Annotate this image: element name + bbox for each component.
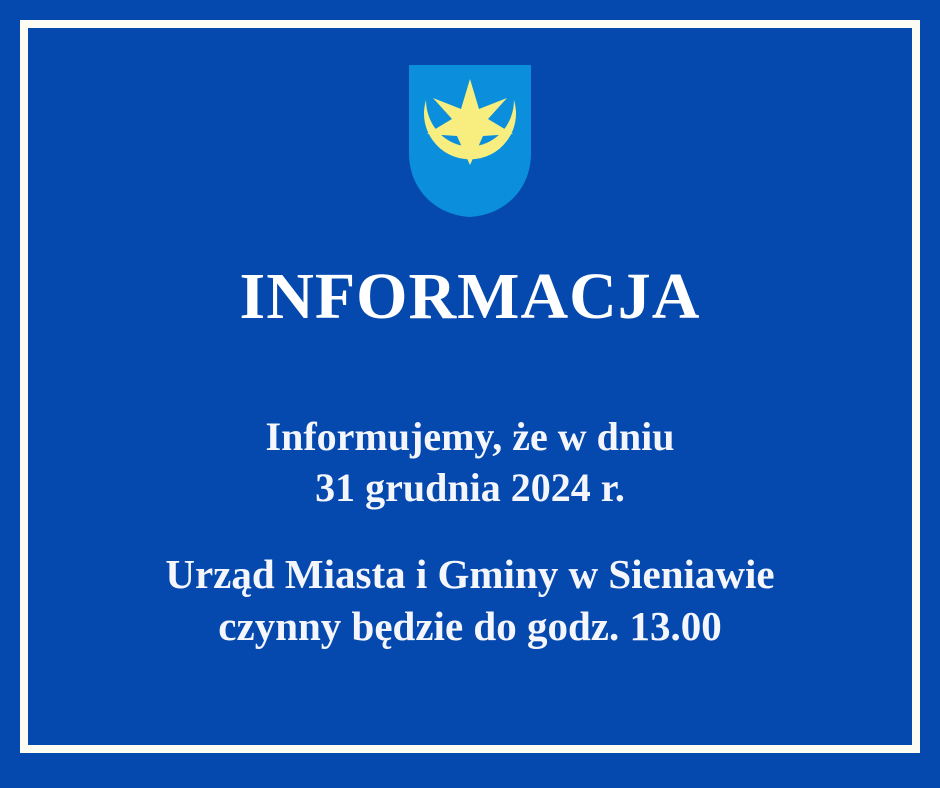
- poster-content: INFORMACJA Informujemy, że w dniu 31 gru…: [28, 28, 912, 745]
- notice-date-paragraph: Informujemy, że w dniu 31 grudnia 2024 r…: [266, 412, 675, 514]
- coat-of-arms-icon: [409, 65, 531, 217]
- information-poster: INFORMACJA Informujemy, że w dniu 31 gru…: [0, 0, 940, 788]
- page-title: INFORMACJA: [240, 264, 701, 330]
- notice-office-paragraph: Urząd Miasta i Gminy w Sieniawie czynny …: [165, 548, 774, 652]
